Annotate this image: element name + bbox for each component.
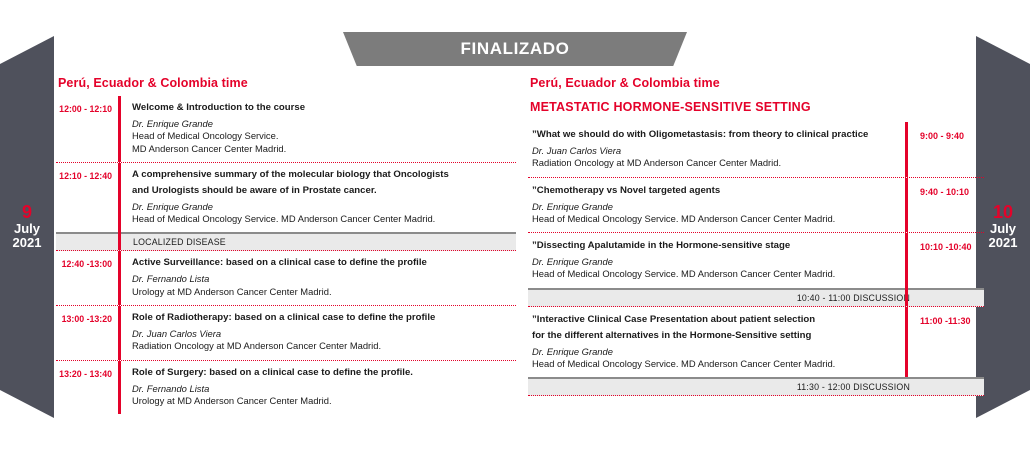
section-heading-metastatic: METASTATIC HORMONE-SENSITIVE SETTING (530, 100, 984, 114)
date-panel-day1: 9 July 2021 (0, 36, 54, 418)
agenda-column-day2: Perú, Ecuador & Colombia time METASTATIC… (528, 76, 984, 396)
date-day1-number: 9 (22, 203, 32, 222)
session-affiliation: MD Anderson Cancer Center Madrid. (132, 143, 516, 155)
session-row: 12:10 - 12:40 A comprehensive summary of… (56, 163, 516, 233)
session-speaker: Dr. Enrique Grande (532, 346, 895, 358)
status-banner: FINALIZADO (343, 32, 687, 66)
session-title: and Urologists should be aware of in Pro… (132, 185, 516, 198)
session-time: 12:00 - 12:10 (56, 102, 118, 114)
session-title: A comprehensive summary of the molecular… (132, 169, 516, 182)
session-speaker: Dr. Enrique Grande (132, 201, 516, 213)
session-title: for the different alternatives in the Ho… (532, 330, 895, 343)
session-speaker: Dr. Enrique Grande (532, 201, 895, 213)
section-band-localized-disease: LOCALIZED DISEASE (56, 232, 516, 251)
session-time: 9:40 - 10:10 (908, 185, 984, 197)
session-title: Role of Radiotherapy: based on a clinica… (132, 312, 516, 325)
status-banner-label: FINALIZADO (461, 39, 570, 59)
session-speaker: Dr. Enrique Grande (532, 256, 895, 268)
date-day2-number: 10 (993, 203, 1013, 222)
session-affiliation: Radiation Oncology at MD Anderson Cancer… (532, 157, 895, 169)
session-affiliation: Head of Medical Oncology Service. MD And… (532, 268, 895, 280)
session-body: A comprehensive summary of the molecular… (121, 169, 516, 226)
discussion-band-label: 10:40 - 11:00 DISCUSSION (797, 293, 910, 303)
discussion-band-label: 11:30 - 12:00 DISCUSSION (797, 382, 910, 392)
session-affiliation: Head of Medical Oncology Service. MD And… (132, 213, 516, 225)
session-title: ”Chemotherapy vs Novel targeted agents (532, 185, 895, 198)
session-body: ”Chemotherapy vs Novel targeted agents D… (528, 185, 905, 226)
session-affiliation: Radiation Oncology at MD Anderson Cancer… (132, 340, 516, 352)
date-day2-month: July (990, 222, 1016, 237)
session-row: ”Dissecting Apalutamide in the Hormone-s… (528, 233, 984, 288)
session-time: 12:40 -13:00 (56, 257, 118, 269)
session-row: 12:40 -13:00 Active Surveillance: based … (56, 251, 516, 306)
session-body: Role of Radiotherapy: based on a clinica… (121, 312, 516, 353)
session-time: 9:00 - 9:40 (908, 129, 984, 141)
session-row: ”What we should do with Oligometastasis:… (528, 122, 984, 178)
date-day1-month: July (14, 222, 40, 237)
timezone-title-day2: Perú, Ecuador & Colombia time (530, 76, 984, 90)
session-time: 11:00 -11:30 (908, 314, 984, 326)
red-divider (118, 232, 121, 250)
session-time: 12:10 - 12:40 (56, 169, 118, 181)
session-speaker: Dr. Fernando Lista (132, 383, 516, 395)
timezone-title-day1: Perú, Ecuador & Colombia time (58, 76, 516, 90)
date-panel-day2: 10 July 2021 (976, 36, 1030, 418)
date-day1-year: 2021 (13, 236, 42, 251)
session-affiliation: Urology at MD Anderson Cancer Center Mad… (132, 395, 516, 407)
date-day2-year: 2021 (989, 236, 1018, 251)
red-divider (905, 288, 908, 306)
session-body: ”Dissecting Apalutamide in the Hormone-s… (528, 240, 905, 281)
agenda-poster: FINALIZADO 9 July 2021 10 July 2021 Perú… (0, 0, 1030, 450)
session-speaker: Dr. Juan Carlos Viera (132, 328, 516, 340)
session-title: ”What we should do with Oligometastasis:… (532, 129, 895, 142)
session-body: ”What we should do with Oligometastasis:… (528, 129, 905, 170)
session-body: Welcome & Introduction to the course Dr.… (121, 102, 516, 155)
agenda-column-day1: Perú, Ecuador & Colombia time 12:00 - 12… (56, 76, 516, 414)
session-title: Welcome & Introduction to the course (132, 102, 516, 115)
session-time: 10:10 -10:40 (908, 240, 984, 252)
session-affiliation: Head of Medical Oncology Service. MD And… (532, 213, 895, 225)
session-body: Role of Surgery: based on a clinical cas… (121, 367, 516, 408)
session-time: 13:00 -13:20 (56, 312, 118, 324)
session-speaker: Dr. Enrique Grande (132, 118, 516, 130)
discussion-band-1: 10:40 - 11:00 DISCUSSION (528, 288, 984, 307)
discussion-band-2: 11:30 - 12:00 DISCUSSION (528, 377, 984, 396)
session-title: ”Interactive Clinical Case Presentation … (532, 314, 895, 327)
section-band-label: LOCALIZED DISEASE (133, 237, 226, 247)
session-title: ”Dissecting Apalutamide in the Hormone-s… (532, 240, 895, 253)
session-row: 12:00 - 12:10 Welcome & Introduction to … (56, 96, 516, 163)
session-speaker: Dr. Fernando Lista (132, 273, 516, 285)
session-row: 13:00 -13:20 Role of Radiotherapy: based… (56, 306, 516, 361)
session-affiliation: Urology at MD Anderson Cancer Center Mad… (132, 286, 516, 298)
session-time: 13:20 - 13:40 (56, 367, 118, 379)
session-speaker: Dr. Juan Carlos Viera (532, 145, 895, 157)
session-row: 13:20 - 13:40 Role of Surgery: based on … (56, 361, 516, 415)
session-row: ”Chemotherapy vs Novel targeted agents D… (528, 178, 984, 234)
session-body: Active Surveillance: based on a clinical… (121, 257, 516, 298)
session-affiliation: Head of Medical Oncology Service. MD And… (532, 358, 895, 370)
session-title: Active Surveillance: based on a clinical… (132, 257, 516, 270)
session-title: Role of Surgery: based on a clinical cas… (132, 367, 516, 380)
session-body: ”Interactive Clinical Case Presentation … (528, 314, 905, 371)
session-row: ”Interactive Clinical Case Presentation … (528, 307, 984, 378)
session-affiliation: Head of Medical Oncology Service. (132, 130, 516, 142)
